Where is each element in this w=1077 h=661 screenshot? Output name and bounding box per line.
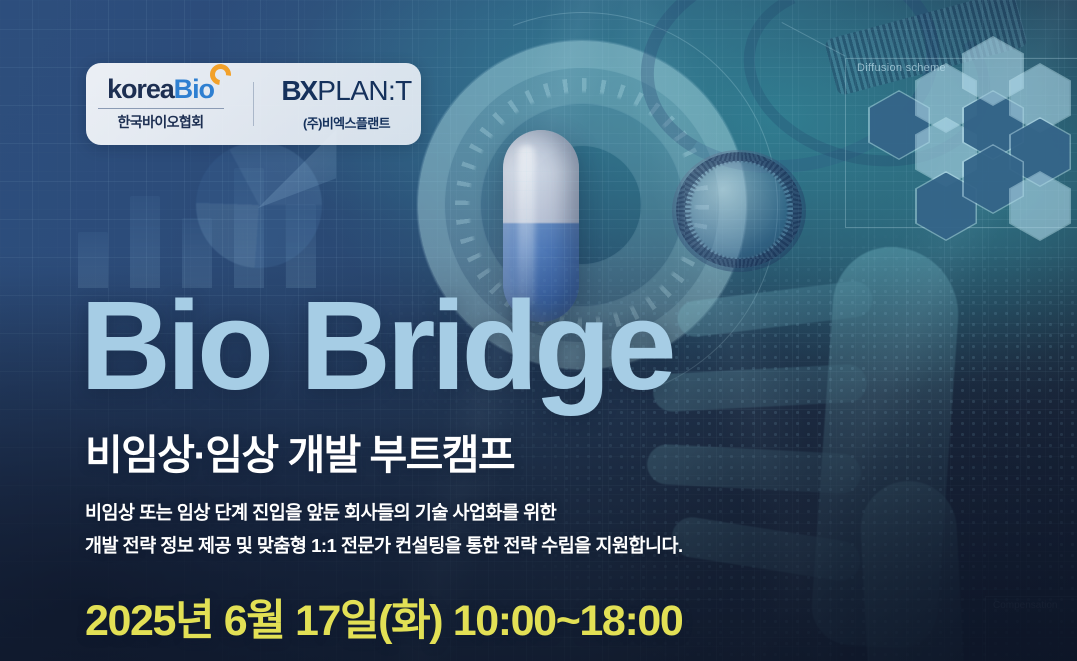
bar-chart-artifact (78, 148, 316, 288)
koreabio-korean-name: 한국바이오협회 (118, 112, 204, 132)
compensation-frame (985, 596, 1077, 661)
compensation-label: Compensation (993, 600, 1057, 611)
stethoscope-tube-icon (625, 0, 955, 194)
diffusion-leader-line (763, 22, 845, 91)
bxplant-wordmark: BX PLAN:T (281, 77, 411, 105)
koreabio-wordmark: korea Bio (107, 76, 214, 103)
bxplant-korean-name: (주)비엑스플랜트 (303, 113, 390, 132)
event-date: 2025년 6월 17일(화) 10:00~18:00 (85, 586, 682, 648)
diffusion-frame (845, 58, 1077, 228)
stethoscope-ring-icon (676, 152, 802, 268)
pie-chart-artifact (196, 142, 322, 268)
diffusion-scheme-label: Diffusion scheme (857, 62, 946, 74)
koreabio-word-korea: korea (107, 76, 174, 103)
subtitle: 비임상·임상 개발 부트캠프 (85, 432, 514, 479)
stethoscope-tube-secondary-icon (724, 0, 1010, 192)
bxplant-logo: BX PLAN:T (주)비엑스플랜트 (272, 77, 421, 132)
description-line-1: 비임상 또는 임상 단계 진입을 앞둔 회사들의 기술 사업화를 위한 (85, 497, 683, 530)
logo-divider (253, 82, 254, 126)
koreabio-word-bio: Bio (174, 76, 214, 103)
description-line-2: 개발 전략 정보 제공 및 맞춤형 1:1 전문가 컨설팅을 통한 전략 수립을… (85, 530, 683, 563)
bxplant-word-plant: PLAN:T (317, 77, 411, 105)
koreabio-logo: korea Bio 한국바이오협회 (86, 76, 235, 132)
page-title: Bio Bridge (80, 283, 672, 409)
koreabio-rule (98, 108, 224, 109)
xray-hand-icon (637, 181, 1077, 661)
description-text: 비임상 또는 임상 단계 진입을 앞둔 회사들의 기술 사업화를 위한 개발 전… (85, 497, 683, 563)
sponsor-logo-card: korea Bio 한국바이오협회 BX PLAN:T (주)비엑스플랜트 (86, 63, 421, 145)
stethoscope-chestpiece-icon (672, 150, 806, 272)
bxplant-word-bx: BX (281, 77, 316, 105)
stethoscope-knurl-icon (824, 0, 1028, 96)
event-poster: Diffusion scheme Compensation korea Bio … (0, 0, 1077, 661)
